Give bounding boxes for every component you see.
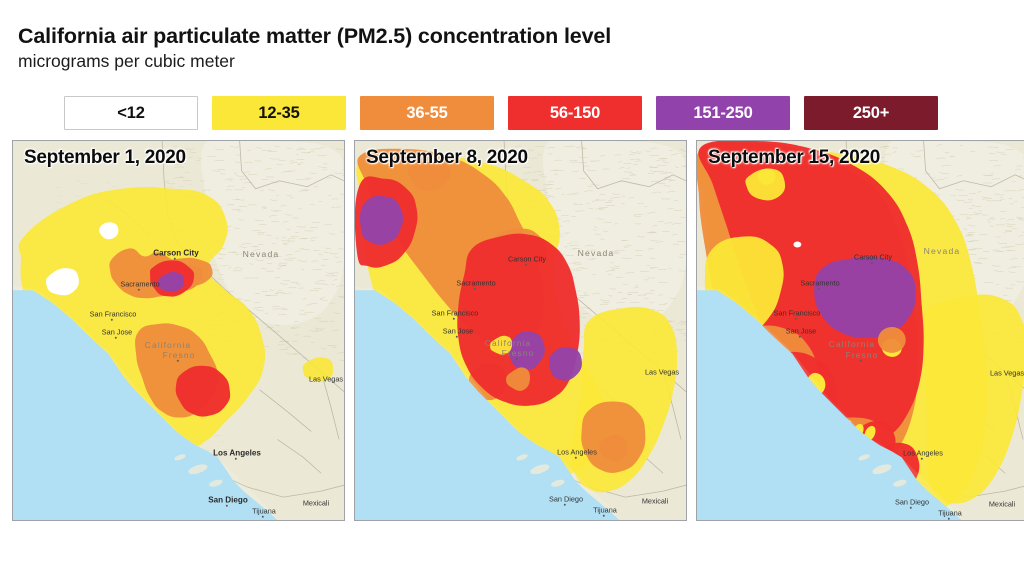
legend-item-36-55: 36-55 bbox=[360, 96, 494, 130]
map-canvas bbox=[355, 141, 686, 520]
legend-item-label: 36-55 bbox=[406, 104, 447, 123]
legend-item-151-250: 151-250 bbox=[656, 96, 790, 130]
page-title: California air particulate matter (PM2.5… bbox=[18, 24, 998, 48]
map-panel-3[interactable]: Carson CityNevadaSacramentoSan Francisco… bbox=[696, 140, 1024, 521]
map-canvas bbox=[13, 141, 344, 520]
page-subtitle: micrograms per cubic meter bbox=[18, 52, 998, 72]
legend-item-12-35: 12-35 bbox=[212, 96, 346, 130]
panel-date-label: September 15, 2020 bbox=[708, 147, 880, 169]
legend-item-label: <12 bbox=[117, 104, 144, 123]
legend: <1212-3536-5556-150151-250250+ bbox=[64, 96, 938, 130]
panel-date-label: September 8, 2020 bbox=[366, 147, 528, 169]
legend-item--12: <12 bbox=[64, 96, 198, 130]
map-panel-2[interactable]: Carson CityNevadaSacramentoSan Francisco… bbox=[354, 140, 687, 521]
map-canvas bbox=[697, 141, 1024, 520]
map-panel-group: Carson CityNevadaSacramentoSan Francisco… bbox=[12, 140, 1024, 521]
map-panel-1[interactable]: Carson CityNevadaSacramentoSan Francisco… bbox=[12, 140, 345, 521]
legend-item-label: 151-250 bbox=[693, 104, 752, 123]
legend-item-250+: 250+ bbox=[804, 96, 938, 130]
legend-item-label: 250+ bbox=[853, 104, 889, 123]
header: California air particulate matter (PM2.5… bbox=[18, 24, 998, 72]
legend-item-label: 56-150 bbox=[550, 104, 600, 123]
panel-date-label: September 1, 2020 bbox=[24, 147, 186, 169]
infographic-root: California air particulate matter (PM2.5… bbox=[0, 0, 1024, 576]
legend-item-56-150: 56-150 bbox=[508, 96, 642, 130]
legend-item-label: 12-35 bbox=[258, 104, 299, 123]
